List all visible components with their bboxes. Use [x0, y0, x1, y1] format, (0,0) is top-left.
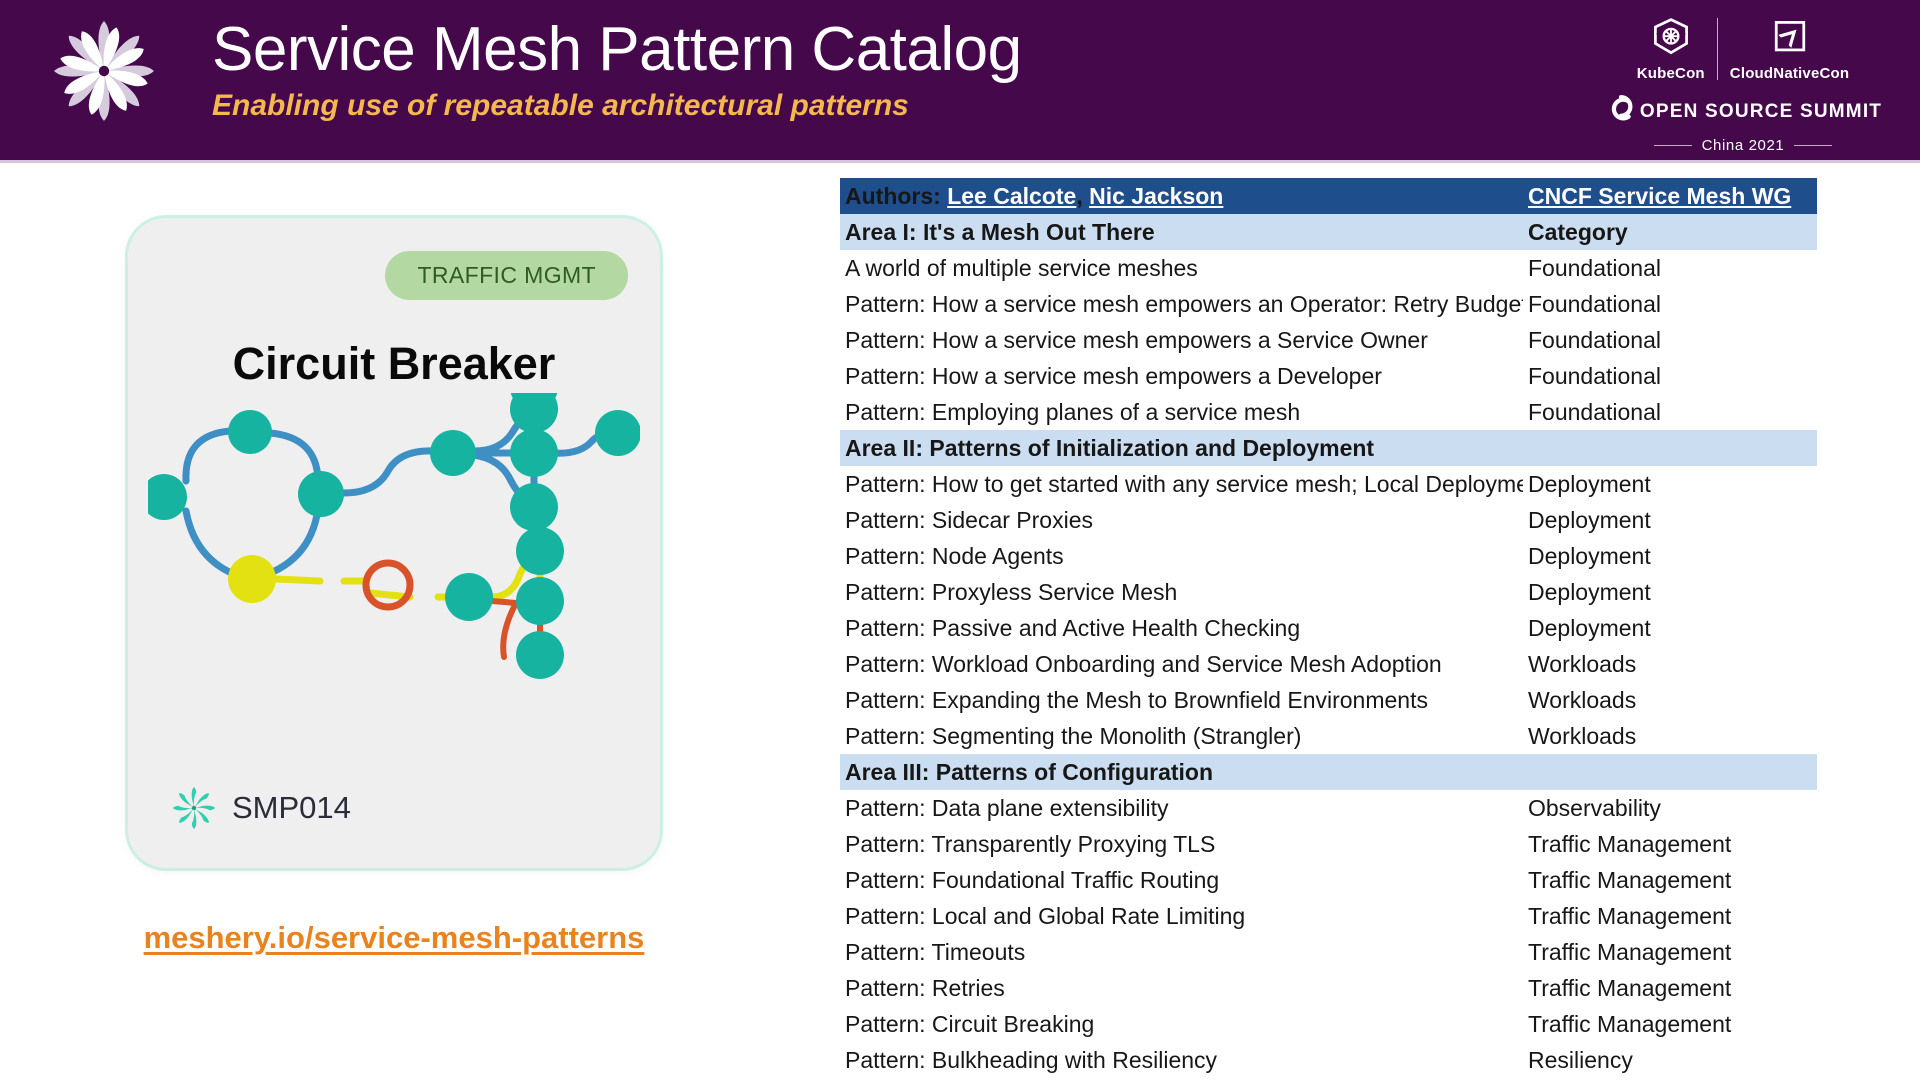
pattern-name-cell: Pattern: Timeouts	[840, 934, 1523, 970]
conference-year-label: China 2021	[1702, 137, 1785, 154]
table-row[interactable]: Pattern: Data plane extensibilityObserva…	[840, 790, 1817, 826]
table-row[interactable]: Pattern: How a service mesh empowers a D…	[840, 358, 1817, 394]
open-source-summit-s-icon	[1604, 92, 1638, 131]
pattern-category-cell: Foundational	[1523, 394, 1817, 430]
pattern-category-cell: Deployment	[1523, 610, 1817, 646]
pattern-card-footer: SMP014	[172, 786, 351, 830]
area-header-row: Area III: Patterns of Configuration	[840, 754, 1817, 790]
table-row[interactable]: Pattern: TimeoutsTraffic Management	[840, 934, 1817, 970]
pattern-name-cell: Pattern: How to get started with any ser…	[840, 466, 1523, 502]
page-header: Service Mesh Pattern Catalog Enabling us…	[0, 0, 1920, 163]
pattern-category-cell: Observability	[1523, 790, 1817, 826]
pattern-name-cell: Pattern: Segmenting the Monolith (Strang…	[840, 718, 1523, 754]
area-header-row: Area I: It's a Mesh Out ThereCategory	[840, 214, 1817, 250]
area-category-header-cell	[1523, 430, 1817, 466]
pattern-name-cell: Pattern: Retries	[840, 970, 1523, 1006]
cloudnativecon-brand: CloudNativeCon	[1718, 16, 1861, 82]
pattern-category-cell: Workloads	[1523, 682, 1817, 718]
header-title-group: Service Mesh Pattern Catalog Enabling us…	[212, 14, 1022, 123]
pattern-name-cell: Pattern: How a service mesh empowers an …	[840, 286, 1523, 322]
pattern-category-cell: Traffic Management	[1523, 826, 1817, 862]
area-title-cell: Area II: Patterns of Initialization and …	[840, 430, 1523, 466]
table-row[interactable]: Pattern: Employing planes of a service m…	[840, 394, 1817, 430]
pattern-name-cell: Pattern: Bulkheading with Resiliency	[840, 1042, 1523, 1078]
cncf-square-icon	[1768, 16, 1812, 62]
pattern-category-cell: Foundational	[1523, 250, 1817, 286]
pattern-category-cell: Traffic Management	[1523, 970, 1817, 1006]
table-row[interactable]: Pattern: Proxyless Service MeshDeploymen…	[840, 574, 1817, 610]
kubecon-brand: KubeCon	[1625, 16, 1717, 82]
area-title-cell: Area I: It's a Mesh Out There	[840, 214, 1523, 250]
kubernetes-helm-icon	[1649, 16, 1693, 62]
cloudnativecon-label: CloudNativeCon	[1730, 65, 1849, 82]
author-link[interactable]: Nic Jackson	[1089, 183, 1223, 209]
pattern-catalog-link[interactable]: meshery.io/service-mesh-patterns	[128, 920, 660, 956]
table-row[interactable]: Pattern: Expanding the Mesh to Brownfiel…	[840, 682, 1817, 718]
pattern-name-cell: Pattern: Workload Onboarding and Service…	[840, 646, 1523, 682]
table-row[interactable]: Pattern: How a service mesh empowers an …	[840, 286, 1817, 322]
pattern-name-cell: Pattern: Expanding the Mesh to Brownfiel…	[840, 682, 1523, 718]
pattern-category-cell: Foundational	[1523, 286, 1817, 322]
table-row[interactable]: Pattern: Transparently Proxying TLSTraff…	[840, 826, 1817, 862]
pattern-name-cell: Pattern: How a service mesh empowers a D…	[840, 358, 1523, 394]
open-source-summit-row: OPEN SOURCE SUMMIT	[1618, 92, 1868, 131]
pattern-category-cell: Traffic Management	[1523, 1006, 1817, 1042]
conference-year-row: China 2021	[1618, 137, 1868, 154]
area-category-header-cell: Category	[1523, 214, 1817, 250]
table-row[interactable]: A world of multiple service meshesFounda…	[840, 250, 1817, 286]
pattern-name-cell: Pattern: Circuit Breaking	[840, 1006, 1523, 1042]
working-group-cell: CNCF Service Mesh WG	[1523, 178, 1817, 214]
kubecon-label: KubeCon	[1637, 65, 1705, 82]
working-group-link[interactable]: CNCF Service Mesh WG	[1528, 183, 1791, 209]
authors-row: Authors: Lee Calcote, Nic JacksonCNCF Se…	[840, 178, 1817, 214]
table-row[interactable]: Pattern: Sidecar ProxiesDeployment	[840, 502, 1817, 538]
table-row[interactable]: Pattern: Bulkheading with ResiliencyResi…	[840, 1042, 1817, 1078]
area-header-row: Area II: Patterns of Initialization and …	[840, 430, 1817, 466]
pattern-name-cell: Pattern: Proxyless Service Mesh	[840, 574, 1523, 610]
conference-brands-row: KubeCon CloudNativeCon	[1618, 8, 1868, 90]
pattern-category-cell: Workloads	[1523, 718, 1817, 754]
pattern-name-cell: Pattern: How a service mesh empowers a S…	[840, 322, 1523, 358]
pattern-name-cell: Pattern: Node Agents	[840, 538, 1523, 574]
table-row[interactable]: Pattern: How to get started with any ser…	[840, 466, 1817, 502]
table-row[interactable]: Pattern: Workload Onboarding and Service…	[840, 646, 1817, 682]
table-row[interactable]: Pattern: Local and Global Rate LimitingT…	[840, 898, 1817, 934]
author-link[interactable]: Lee Calcote	[947, 183, 1076, 209]
area-category-header-cell	[1523, 754, 1817, 790]
conference-logo-group: KubeCon CloudNativeCon OPEN	[1618, 8, 1868, 153]
pattern-category-cell: Traffic Management	[1523, 934, 1817, 970]
pattern-category-cell: Traffic Management	[1523, 862, 1817, 898]
meshery-logo-icon-small	[172, 786, 216, 830]
pattern-category-cell: Resiliency	[1523, 1042, 1817, 1078]
table-row[interactable]: Pattern: Segmenting the Monolith (Strang…	[840, 718, 1817, 754]
pattern-category-cell: Workloads	[1523, 646, 1817, 682]
page-title: Service Mesh Pattern Catalog	[212, 14, 1022, 85]
pattern-catalog-table: Authors: Lee Calcote, Nic JacksonCNCF Se…	[840, 178, 1817, 1078]
pattern-name-cell: Pattern: Foundational Traffic Routing	[840, 862, 1523, 898]
pattern-category-cell: Deployment	[1523, 502, 1817, 538]
table-row[interactable]: Pattern: Passive and Active Health Check…	[840, 610, 1817, 646]
pattern-category-cell: Deployment	[1523, 574, 1817, 610]
pattern-category-cell: Deployment	[1523, 538, 1817, 574]
authors-cell: Authors: Lee Calcote, Nic Jackson	[840, 178, 1523, 214]
rule-left	[1654, 145, 1692, 146]
pattern-name-cell: Pattern: Data plane extensibility	[840, 790, 1523, 826]
open-source-summit-label: OPEN SOURCE SUMMIT	[1640, 101, 1882, 123]
pattern-name-cell: Pattern: Transparently Proxying TLS	[840, 826, 1523, 862]
pattern-name-cell: Pattern: Employing planes of a service m…	[840, 394, 1523, 430]
pattern-name-cell: Pattern: Passive and Active Health Check…	[840, 610, 1523, 646]
pattern-category-cell: Foundational	[1523, 322, 1817, 358]
pattern-name-cell: A world of multiple service meshes	[840, 250, 1523, 286]
page-subtitle: Enabling use of repeatable architectural…	[212, 89, 1022, 123]
area-title-cell: Area III: Patterns of Configuration	[840, 754, 1523, 790]
pattern-title: Circuit Breaker	[128, 338, 660, 390]
table-row[interactable]: Pattern: Node AgentsDeployment	[840, 538, 1817, 574]
meshery-logo-icon	[52, 16, 156, 126]
table-row[interactable]: Pattern: Circuit BreakingTraffic Managem…	[840, 1006, 1817, 1042]
table-row[interactable]: Pattern: How a service mesh empowers a S…	[840, 322, 1817, 358]
table-row[interactable]: Pattern: RetriesTraffic Management	[840, 970, 1817, 1006]
pattern-name-cell: Pattern: Local and Global Rate Limiting	[840, 898, 1523, 934]
service-mesh-diagram	[148, 393, 640, 733]
pattern-category-cell: Deployment	[1523, 466, 1817, 502]
status-badge: TRAFFIC MGMT	[385, 251, 628, 300]
rule-right	[1794, 145, 1832, 146]
source-node	[228, 555, 276, 603]
table-row[interactable]: Pattern: Foundational Traffic RoutingTra…	[840, 862, 1817, 898]
pattern-category-cell: Traffic Management	[1523, 898, 1817, 934]
pattern-name-cell: Pattern: Sidecar Proxies	[840, 502, 1523, 538]
pattern-category-cell: Foundational	[1523, 358, 1817, 394]
circuit-breaker-ring	[366, 563, 410, 607]
pattern-card[interactable]: TRAFFIC MGMT Circuit Breaker	[128, 218, 660, 868]
pattern-id-label: SMP014	[232, 790, 351, 826]
